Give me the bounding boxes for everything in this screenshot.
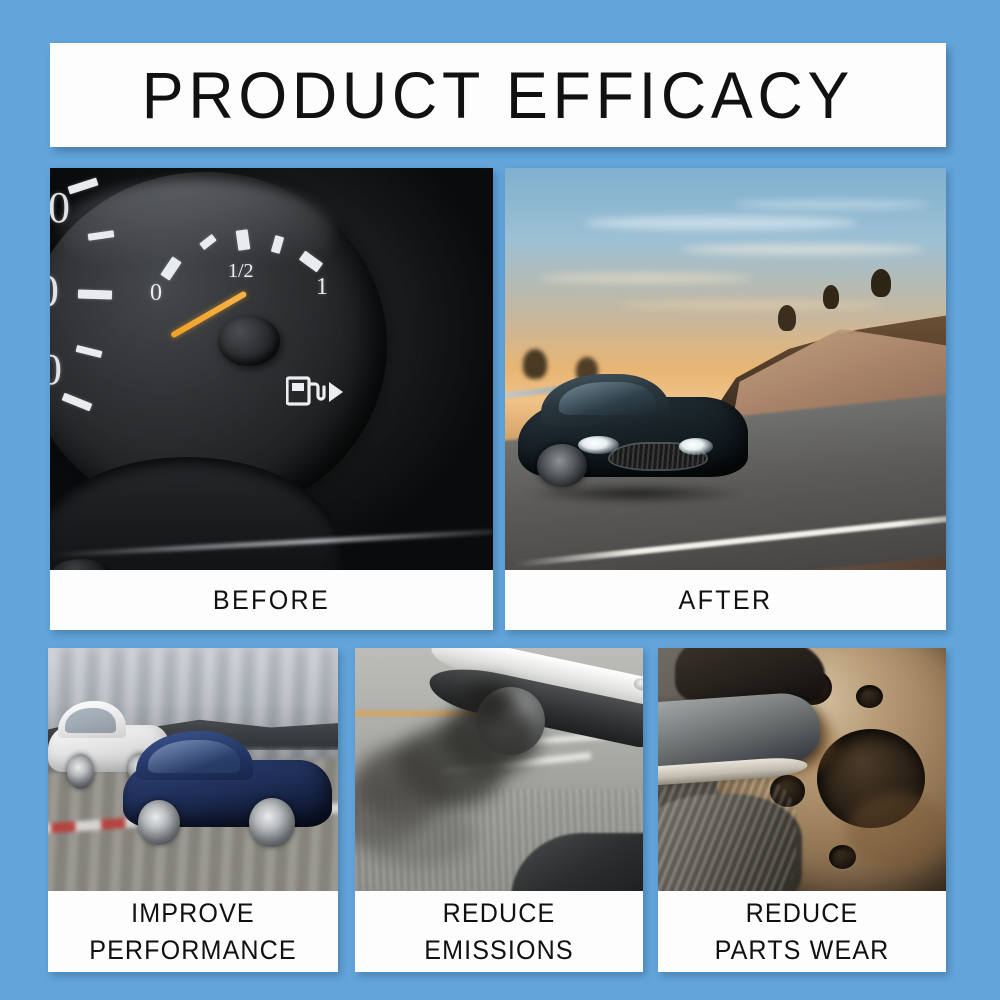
product-efficacy-poster: PRODUCT EFFICACY 0 0 0: [0, 0, 1000, 1000]
caption-line-1: REDUCE: [715, 895, 890, 931]
car-windshield: [559, 382, 655, 415]
sports-car-sunset-photo: [505, 168, 946, 570]
racing-cars-photo: [48, 648, 338, 891]
fuel-gauge-photo: 0 0 0 0 1/2 1: [50, 168, 493, 570]
rotor-bolt-hole: [856, 685, 883, 708]
gauge-tick: [67, 178, 98, 195]
exhaust-smoke-plume: [361, 804, 476, 867]
worn-brake-photo: [658, 648, 946, 891]
car-wheel: [537, 444, 587, 488]
reduce-emissions-card: REDUCE EMISSIONS: [355, 648, 643, 972]
left-gauge-digit-bottom: 0: [50, 344, 62, 395]
gauge-label-zero: 0: [150, 280, 162, 307]
before-card: 0 0 0 0 1/2 1: [50, 168, 493, 630]
reduce-parts-wear-caption: REDUCE PARTS WEAR: [668, 891, 936, 972]
before-caption: BEFORE: [66, 570, 478, 630]
improve-performance-caption: IMPROVE PERFORMANCE: [58, 891, 328, 972]
worn-brake-pad: [658, 690, 822, 775]
sports-car: [518, 369, 747, 498]
rust-patch: [847, 793, 946, 869]
left-gauge-digit-top: 0: [50, 182, 70, 233]
rotor-scoring-marks: [658, 774, 796, 891]
gauge-label-one: 1: [316, 274, 328, 301]
sunset-sky-background: [505, 168, 946, 570]
fuel-pump-icon: [286, 374, 344, 413]
reduce-parts-wear-card: REDUCE PARTS WEAR: [658, 648, 946, 972]
race-track-background: [48, 648, 338, 891]
left-gauge-digit-mid: 0: [50, 264, 59, 317]
after-caption: AFTER: [520, 570, 930, 630]
blue-race-car: [123, 731, 332, 843]
car-wheel: [67, 754, 94, 789]
improve-performance-card: IMPROVE PERFORMANCE: [48, 648, 338, 972]
roadside-tree: [823, 285, 839, 309]
gauge-tick-half: [236, 229, 251, 250]
title-banner: PRODUCT EFFICACY: [50, 43, 946, 147]
cloud-streak: [681, 244, 924, 255]
exhaust-smoke-photo: [355, 648, 643, 891]
car-wheel: [249, 798, 295, 847]
cloud-streak: [734, 200, 928, 209]
after-card: AFTER: [505, 168, 946, 630]
roadside-tree: [871, 269, 891, 297]
gauge-label-half: 1/2: [228, 260, 254, 283]
exhaust-smoke-plume: [464, 682, 516, 721]
gauge-hub: [218, 316, 280, 366]
caption-line-2: PARTS WEAR: [715, 932, 890, 968]
road-background: [355, 648, 643, 891]
cloud-streak: [584, 216, 857, 230]
brake-assembly-background: [658, 648, 946, 891]
brake-caliper: [675, 648, 825, 701]
caption-line-1: REDUCE: [424, 895, 574, 931]
caption-line-2: EMISSIONS: [424, 932, 574, 968]
car-windshield: [65, 708, 116, 733]
cloud-streak: [540, 273, 752, 283]
roadside-tree: [778, 305, 796, 331]
gauge-tick: [78, 289, 112, 299]
page-title: PRODUCT EFFICACY: [142, 62, 854, 128]
dashboard-knob: [51, 559, 110, 570]
cloud-streak: [620, 301, 885, 309]
car-wheel: [138, 800, 180, 845]
reduce-emissions-caption: REDUCE EMISSIONS: [365, 891, 633, 972]
dashboard-background: 0 0 0 0 1/2 1: [50, 168, 493, 570]
caption-line-1: IMPROVE: [89, 895, 297, 931]
car-headlight: [578, 436, 619, 454]
caption-line-2: PERFORMANCE: [89, 932, 297, 968]
